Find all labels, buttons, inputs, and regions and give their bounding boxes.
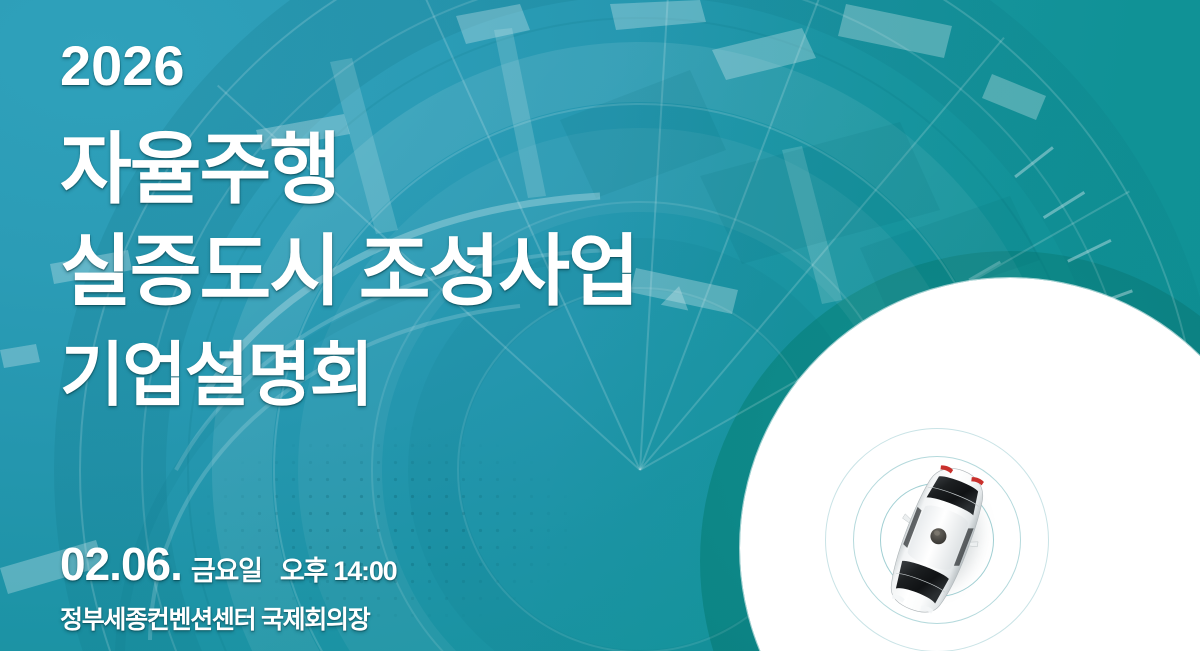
event-time: 오후 14:00 — [280, 549, 397, 588]
event-weekday: 금요일 — [191, 549, 262, 588]
event-date: 02.06. — [60, 537, 182, 591]
poster-title-line-3: 기업설명회 — [60, 340, 372, 410]
poster-year: 2026 — [60, 38, 185, 94]
poster-title-line-1: 자율주행 — [60, 130, 339, 208]
poster-title-line-2: 실증도시 조성사업 — [60, 232, 638, 310]
event-poster: 2026 자율주행 실증도시 조성사업 기업설명회 02.06. 금요일 오후 … — [0, 0, 1200, 651]
event-datetime-row: 02.06. 금요일 오후 14:00 — [60, 537, 396, 591]
event-venue: 정부세종컨벤션센터 국제회의장 — [60, 600, 369, 636]
autonomous-car-graphic — [822, 425, 1052, 651]
